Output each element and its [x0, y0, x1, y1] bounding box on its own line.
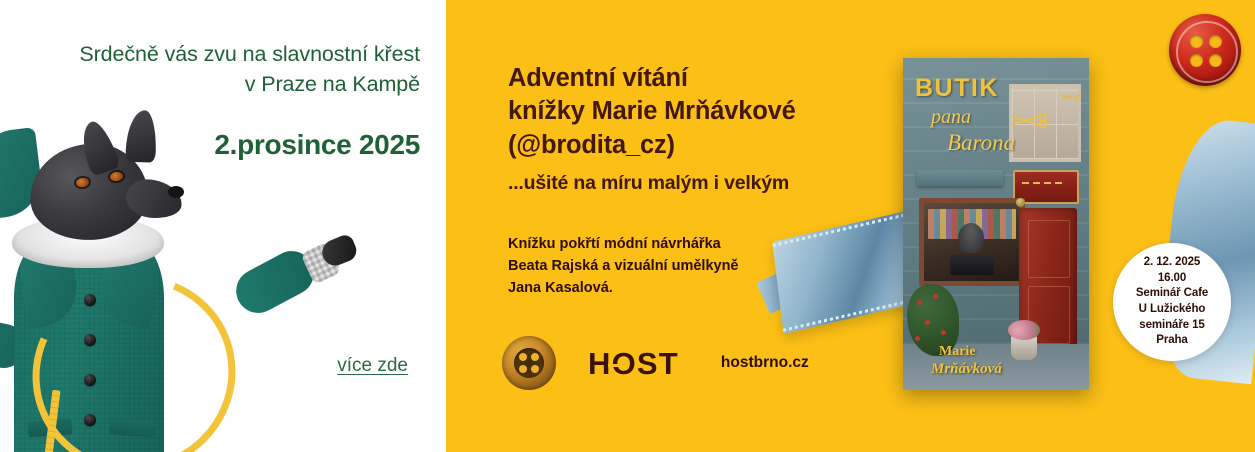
wolf-nose	[168, 186, 184, 198]
host-o-bar-icon	[608, 364, 623, 368]
wolf-puppet-image	[0, 128, 278, 452]
invite-heading: Srdečně vás zvu na slavnostní křest v Pr…	[30, 40, 420, 99]
event-details-badge: 2. 12. 2025 16.00 Seminář Cafe U Lužické…	[1113, 243, 1231, 361]
red-button-hole-3	[1190, 54, 1203, 67]
promo-banner: Srdečně vás zvu na slavnostní křest v Pr…	[0, 0, 1255, 452]
red-button-hole-1	[1190, 35, 1203, 48]
book-author-first-name: Marie	[939, 344, 976, 360]
publisher-url[interactable]: hostbrno.cz	[721, 354, 809, 372]
right-announcement-panel: Adventní vítání knížky Marie Mrňávkové (…	[446, 0, 1255, 452]
event-details-text: 2. 12. 2025 16.00 Seminář Cafe U Lužické…	[1136, 255, 1208, 349]
book-awning	[917, 170, 1003, 186]
berry	[915, 336, 920, 341]
tailor-wolf-figure	[958, 223, 984, 253]
red-button-rim	[1176, 21, 1238, 83]
book-cover-image: Host BUTIK pana Barona	[903, 58, 1089, 390]
announcement-headline: Adventní vítání knížky Marie Mrňávkové (…	[508, 62, 938, 162]
button-hole-4	[531, 365, 539, 373]
book-flower-planter	[1011, 336, 1037, 360]
red-button-icon	[1169, 14, 1241, 86]
button-hole-1	[519, 353, 527, 361]
scissors-icon	[1009, 114, 1053, 128]
host-button-logo-icon	[502, 336, 556, 390]
berry	[925, 320, 930, 325]
button-logo-inner	[514, 348, 544, 378]
door-knob-icon	[1016, 198, 1025, 207]
berry	[933, 294, 938, 299]
book-publisher-mark: Host	[1063, 94, 1080, 101]
left-invite-panel: Srdečně vás zvu na slavnostní křest v Pr…	[0, 0, 446, 452]
red-button-hole-4	[1209, 54, 1222, 67]
book-shop-window	[919, 198, 1025, 286]
wolf-ear-left	[75, 118, 121, 177]
sewing-machine	[950, 255, 994, 275]
wolf-ear-right	[125, 110, 157, 163]
berry	[941, 330, 946, 335]
book-subtitle-line-1: pana	[931, 106, 971, 129]
host-wordmark-text: HOST	[588, 346, 679, 381]
book-title: BUTIK	[915, 74, 1031, 103]
planter-blooms	[1008, 320, 1040, 340]
door-panel-upper	[1028, 220, 1070, 278]
announcement-subheadline: ...ušité na míru malým i velkým	[508, 172, 948, 195]
publisher-logo-row: HOST hostbrno.cz	[502, 336, 809, 390]
book-author-last-name: Mrňávková	[931, 361, 1002, 378]
more-info-link[interactable]: více zde	[337, 355, 408, 377]
button-hole-2	[531, 353, 539, 361]
host-wordmark: HOST	[588, 348, 679, 379]
red-button-hole-2	[1209, 35, 1222, 48]
book-subtitle-line-2: Barona	[947, 130, 1015, 156]
button-hole-3	[519, 365, 527, 373]
berry	[917, 300, 922, 305]
